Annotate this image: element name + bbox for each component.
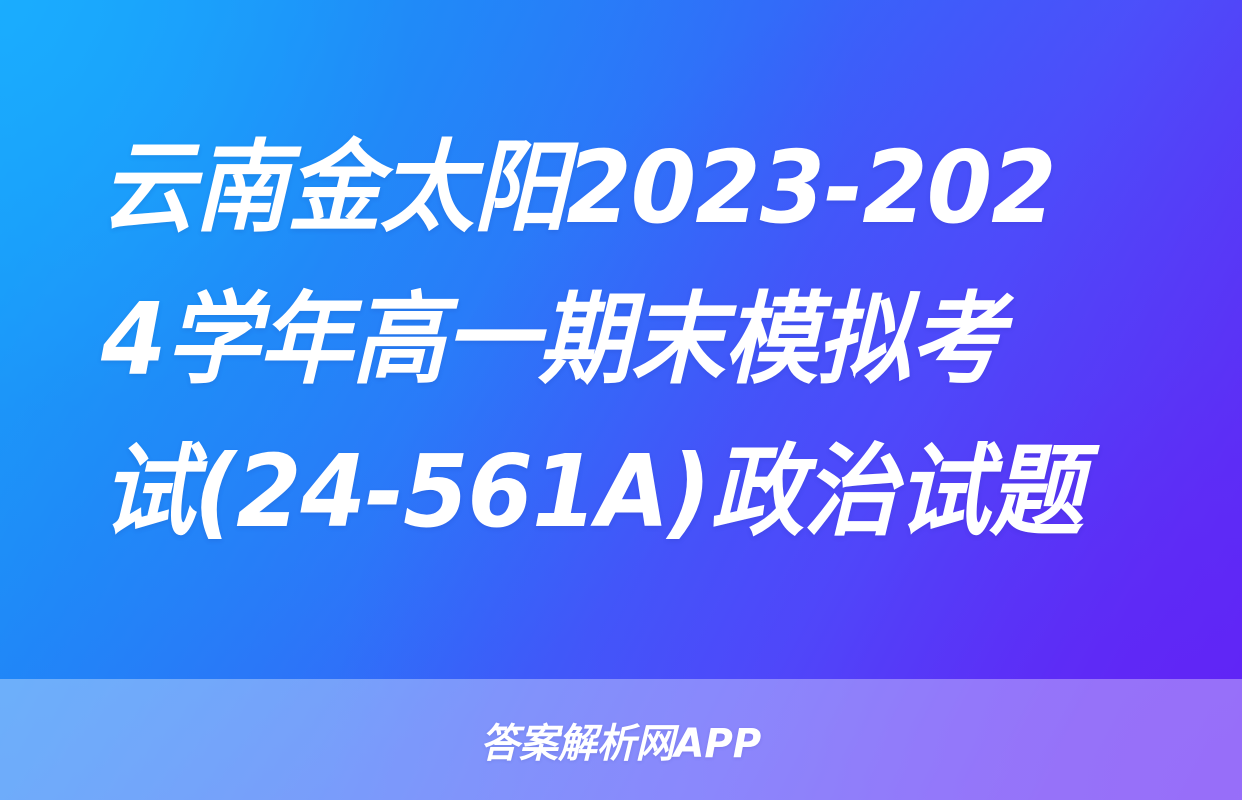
page-title: 云南金太阳2023-2024学年高一期末模拟考试(24-561A)政治试题 [101, 112, 1095, 568]
poster-title-container: 云南金太阳2023-2024学年高一期末模拟考试(24-561A)政治试题 [0, 0, 1242, 679]
poster-canvas: 云南金太阳2023-2024学年高一期末模拟考试(24-561A)政治试题 答案… [0, 0, 1242, 800]
app-watermark-text: 答案解析网APP [481, 711, 762, 769]
footer-watermark-band: 答案解析网APP [0, 679, 1242, 800]
